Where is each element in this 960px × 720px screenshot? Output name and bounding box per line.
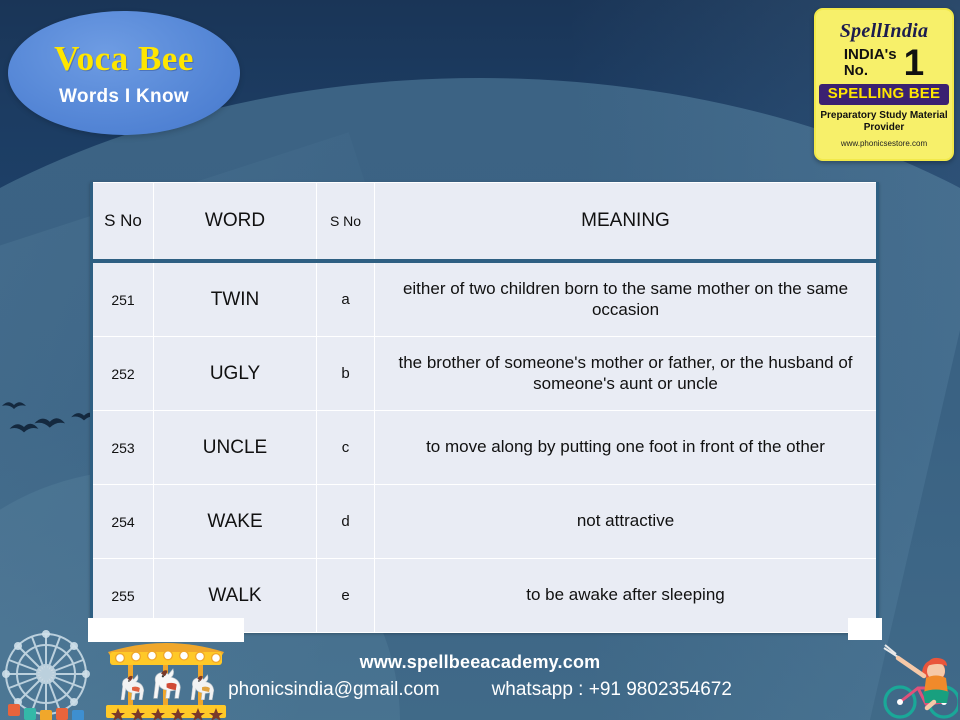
- badge-rank-number: 1: [904, 47, 925, 79]
- cell-meaning: to move along by putting one foot in fro…: [375, 411, 878, 485]
- cell-word: UNCLE: [154, 411, 317, 485]
- cell-sno: 251: [92, 261, 154, 337]
- header-word: WORD: [154, 183, 317, 262]
- cell-letter: b: [317, 337, 375, 411]
- cell-word: WAKE: [154, 485, 317, 559]
- cell-meaning: the brother of someone's mother or fathe…: [375, 337, 878, 411]
- badge-brand-name: SpellIndia: [840, 20, 929, 43]
- footer-email[interactable]: phonicsindia@gmail.com: [228, 679, 440, 701]
- badge-indias-no: INDIA's No.: [844, 47, 897, 78]
- voca-bee-logo: Voca Bee Words I Know: [8, 11, 240, 135]
- badge-url: www.phonicsestore.com: [841, 139, 927, 148]
- header-sno: S No: [92, 183, 154, 262]
- footer-whatsapp: whatsapp : +91 9802354672: [492, 679, 732, 701]
- cell-letter: c: [317, 411, 375, 485]
- cell-word: TWIN: [154, 261, 317, 337]
- logo-subtitle: Words I Know: [59, 87, 189, 106]
- cell-meaning: to be awake after sleeping: [375, 559, 878, 633]
- table-row: 252 UGLY b the brother of someone's moth…: [92, 337, 878, 411]
- badge-no-label: No.: [844, 63, 897, 79]
- footer-contact-row: phonicsindia@gmail.com whatsapp : +91 98…: [0, 679, 960, 701]
- footer-website[interactable]: www.spellbeeacademy.com: [0, 652, 960, 673]
- badge-tagline: Preparatory Study Material Provider: [816, 110, 952, 135]
- badge-rank-group: INDIA's No. 1: [816, 47, 952, 79]
- cell-sno: 252: [92, 337, 154, 411]
- cell-letter: d: [317, 485, 375, 559]
- table-row: 254 WAKE d not attractive: [92, 485, 878, 559]
- badge-bar-label: SPELLING BEE: [828, 85, 940, 102]
- header-sno-2: S No: [317, 183, 375, 262]
- footer: www.spellbeeacademy.com phonicsindia@gma…: [0, 652, 960, 701]
- slide-canvas: Voca Bee Words I Know SpellIndia INDIA's…: [0, 0, 960, 720]
- cell-word: UGLY: [154, 337, 317, 411]
- cell-sno: 254: [92, 485, 154, 559]
- badge-indias-label: INDIA's: [844, 47, 897, 63]
- cell-letter: a: [317, 261, 375, 337]
- words-table: S No WORD S No MEANING 251 TWIN a either…: [90, 182, 879, 633]
- table-header-row: S No WORD S No MEANING: [92, 183, 878, 262]
- table-body: 251 TWIN a either of two children born t…: [92, 261, 878, 633]
- table-row: 251 TWIN a either of two children born t…: [92, 261, 878, 337]
- spellindia-badge: SpellIndia INDIA's No. 1 SPELLING BEE Pr…: [814, 8, 954, 161]
- cell-sno: 253: [92, 411, 154, 485]
- cell-letter: e: [317, 559, 375, 633]
- badge-spelling-bee-bar: SPELLING BEE: [819, 84, 949, 105]
- logo-title: Voca Bee: [54, 41, 194, 76]
- table-row: 253 UNCLE c to move along by putting one…: [92, 411, 878, 485]
- header-meaning: MEANING: [375, 183, 878, 262]
- cell-meaning: not attractive: [375, 485, 878, 559]
- white-strip-right: [848, 618, 882, 640]
- cell-meaning: either of two children born to the same …: [375, 261, 878, 337]
